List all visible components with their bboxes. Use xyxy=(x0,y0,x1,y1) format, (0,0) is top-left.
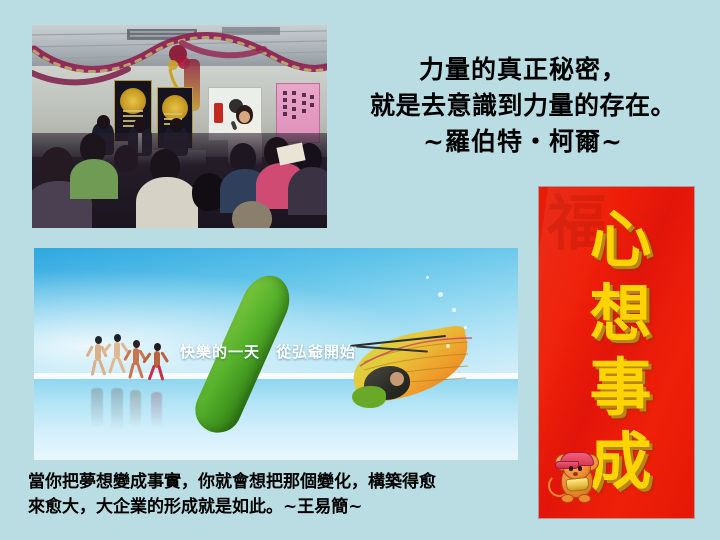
mouse-nose xyxy=(573,472,578,476)
quote-bottom-line-2: 來愈大，大企業的形成就是如此。~王易簡~ xyxy=(28,495,548,520)
red-banner: 福 心 想 事 成 xyxy=(539,187,694,518)
banner-char-3: 事 xyxy=(539,351,694,425)
runner-reflection xyxy=(91,388,103,428)
panel-head-2 xyxy=(134,118,147,132)
runner-reflection xyxy=(151,392,162,428)
runner-reflection xyxy=(111,388,123,430)
quote-bottom: 當你把夢想變成事實，你就會想把那個變化，構築得愈 來愈大，大企業的形成就是如此。… xyxy=(28,470,548,520)
panel-head-1 xyxy=(97,115,110,129)
beach-runner xyxy=(150,343,166,387)
panel-head-3 xyxy=(170,118,183,132)
beach-runner xyxy=(91,336,107,382)
audience-shoulders xyxy=(136,177,198,228)
audience-shoulders xyxy=(70,159,118,199)
mouse-foot-right xyxy=(578,494,591,503)
banner-char-1: 心 xyxy=(539,203,694,277)
mouse-eye-right xyxy=(578,466,582,471)
mouse-cap-brim xyxy=(555,461,579,469)
rider-legs xyxy=(352,386,386,408)
mouse-mascot-icon xyxy=(549,442,605,504)
audience-head xyxy=(232,201,272,228)
mouse-foot-left xyxy=(561,494,574,503)
audience-shoulders xyxy=(288,167,327,215)
photo-meeting-room xyxy=(32,25,327,228)
audience-head xyxy=(40,147,74,185)
slide-canvas: 快樂的一天 從弘爺開始 力量的真正秘密， 就是去意識到力量的存在。 ~羅伯特‧柯… xyxy=(0,0,720,540)
runner-reflection xyxy=(130,390,141,428)
fire-extinguisher-icon xyxy=(214,103,223,123)
water-spray xyxy=(464,326,467,329)
quote-top: 力量的真正秘密， 就是去意識到力量的存在。 ~羅伯特‧柯爾~ xyxy=(340,52,706,160)
water-spray xyxy=(446,344,450,348)
photo-beach-windsurf: 快樂的一天 從弘爺開始 xyxy=(34,248,518,460)
water-spray xyxy=(426,276,429,279)
water-spray xyxy=(438,292,443,297)
quote-top-attribution: ~羅伯特‧柯爾~ xyxy=(340,124,706,160)
rider-head xyxy=(390,372,404,386)
beach-overlay-text: 快樂的一天 從弘爺開始 xyxy=(180,341,356,362)
quote-top-line-1: 力量的真正秘密， xyxy=(340,52,706,88)
banner-char-2: 想 xyxy=(539,277,694,351)
quote-top-line-2: 就是去意識到力量的存在。 xyxy=(340,88,706,124)
audience-head xyxy=(114,145,138,172)
water-spray xyxy=(452,308,456,312)
speaker-face xyxy=(239,111,250,123)
mouse-eye-left xyxy=(569,466,573,471)
quote-bottom-line-1: 當你把夢想變成事實，你就會想把那個變化，構築得愈 xyxy=(28,470,548,495)
audience-head xyxy=(230,143,256,172)
